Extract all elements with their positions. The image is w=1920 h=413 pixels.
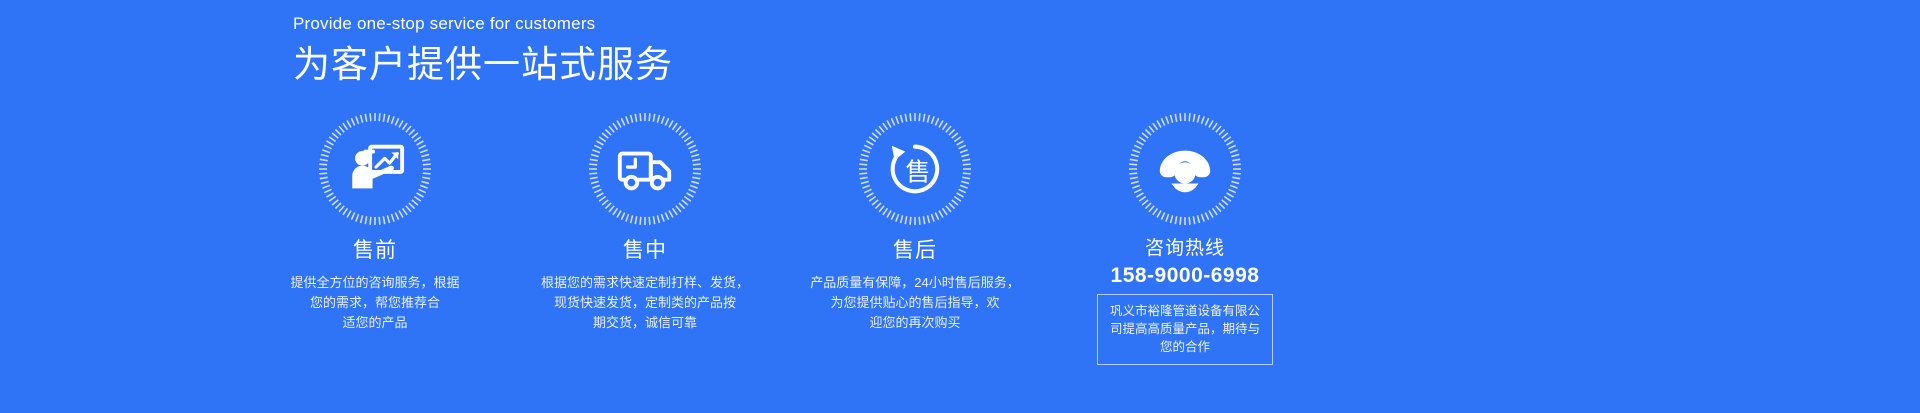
company-note-line: 您的合作 xyxy=(1106,338,1264,356)
card-title: 售后 xyxy=(893,238,937,264)
card-body-line: 迎您的再次购买 xyxy=(790,313,1040,333)
card-title: 售中 xyxy=(623,238,667,264)
banner-header: Provide one-stop service for customers 为… xyxy=(293,14,673,89)
service-card-presale[interactable]: 售前 提供全方位的咨询服务，根据 您的需求，帮您推荐合 适您的产品 xyxy=(240,110,510,333)
telephone-icon xyxy=(1126,110,1244,228)
presenter-chart-icon xyxy=(316,110,434,228)
company-note-box: 巩义市裕隆管道设备有限公 司提高高质量产品，期待与 您的合作 xyxy=(1097,294,1273,365)
card-body-line: 现货快速发货，定制类的产品按 xyxy=(520,293,770,313)
card-body: 产品质量有保障，24小时售后服务， 为您提供贴心的售后指导，欢 迎您的再次购买 xyxy=(790,273,1040,333)
card-body-line: 适您的产品 xyxy=(250,313,500,333)
card-body-line: 提供全方位的咨询服务，根据 xyxy=(250,273,500,293)
promo-banner: Provide one-stop service for customers 为… xyxy=(0,0,1920,413)
card-body-line: 期交货，诚信可靠 xyxy=(520,313,770,333)
hotline-title: 咨询热线 xyxy=(1145,238,1225,261)
service-cards: 售前 提供全方位的咨询服务，根据 您的需求，帮您推荐合 适您的产品 xyxy=(240,110,1680,410)
card-title: 售前 xyxy=(353,238,397,264)
card-body: 提供全方位的咨询服务，根据 您的需求，帮您推荐合 适您的产品 xyxy=(250,273,500,333)
hotline-phone-number[interactable]: 158-9000-6998 xyxy=(1111,264,1260,288)
badge-aftersale: 售 xyxy=(856,110,974,228)
badge-hotline xyxy=(1126,110,1244,228)
badge-insale xyxy=(586,110,704,228)
card-body: 根据您的需求快速定制打样、发货， 现货快速发货，定制类的产品按 期交货，诚信可靠 xyxy=(520,273,770,333)
after-sale-refresh-icon: 售 xyxy=(856,110,974,228)
card-body-line: 您的需求，帮您推荐合 xyxy=(250,293,500,313)
badge-presale xyxy=(316,110,434,228)
delivery-truck-clock-icon xyxy=(586,110,704,228)
card-body-line: 产品质量有保障，24小时售后服务， xyxy=(790,273,1040,293)
service-card-aftersale[interactable]: 售 售后 产品质量有保障，24小时售后服务， 为您提供贴心的售后指导，欢 迎您的… xyxy=(780,110,1050,333)
card-body-line: 根据您的需求快速定制打样、发货， xyxy=(520,273,770,293)
service-card-insale[interactable]: 售中 根据您的需求快速定制打样、发货， 现货快速发货，定制类的产品按 期交货，诚… xyxy=(510,110,780,333)
card-body-line: 为您提供贴心的售后指导，欢 xyxy=(790,293,1040,313)
company-note-line: 巩义市裕隆管道设备有限公 xyxy=(1106,302,1264,320)
company-note-line: 司提高高质量产品，期待与 xyxy=(1106,320,1264,338)
banner-title-cn: 为客户提供一站式服务 xyxy=(293,42,673,88)
banner-subtitle-en: Provide one-stop service for customers xyxy=(293,14,673,34)
svg-text:售: 售 xyxy=(905,159,930,187)
service-card-hotline[interactable]: 咨询热线 158-9000-6998 巩义市裕隆管道设备有限公 司提高高质量产品… xyxy=(1050,110,1320,365)
